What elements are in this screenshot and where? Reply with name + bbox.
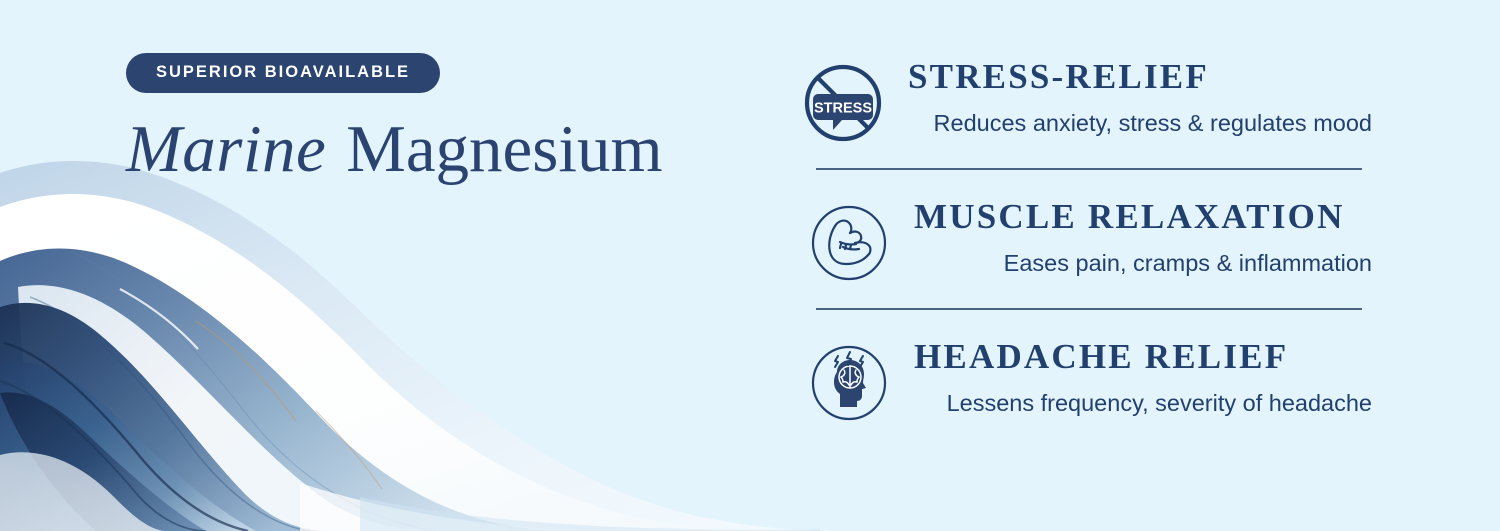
- benefit-item-stress-relief: STRESS STRESS-RELIEF Reduces anxiety, st…: [804, 56, 1372, 142]
- marine-magnesium-banner: SUPERIOR BIOAVAILABLE MarineMagnesium ST…: [0, 0, 1500, 531]
- stress-icon-label: STRESS: [814, 101, 872, 117]
- benefit-item-headache-relief: HEADACHE RELIEF Lessens frequency, sever…: [810, 336, 1372, 422]
- no-stress-speech-bubble-icon: STRESS: [804, 64, 882, 142]
- benefit-divider-1: [816, 168, 1362, 170]
- benefits-list: STRESS STRESS-RELIEF Reduces anxiety, st…: [800, 56, 1372, 422]
- benefit-title: STRESS-RELIEF: [908, 58, 1372, 97]
- page-title: MarineMagnesium: [126, 113, 746, 185]
- hero-copy: SUPERIOR BIOAVAILABLE MarineMagnesium: [126, 53, 746, 185]
- benefit-description: Reduces anxiety, stress & regulates mood: [908, 110, 1372, 137]
- superior-bioavailable-badge: SUPERIOR BIOAVAILABLE: [126, 53, 440, 93]
- benefit-title: HEADACHE RELIEF: [914, 338, 1372, 377]
- flexed-bicep-icon: [810, 204, 888, 282]
- benefit-title: MUSCLE RELAXATION: [914, 198, 1372, 237]
- benefit-divider-2: [816, 308, 1362, 310]
- benefit-item-muscle-relaxation: MUSCLE RELAXATION Eases pain, cramps & i…: [810, 196, 1372, 282]
- head-brain-lightning-icon: [810, 344, 888, 422]
- benefit-description: Eases pain, cramps & inflammation: [914, 250, 1372, 277]
- benefit-description: Lessens frequency, severity of headache: [914, 390, 1372, 417]
- title-word-magnesium: Magnesium: [346, 112, 662, 186]
- title-word-marine: Marine: [126, 112, 326, 186]
